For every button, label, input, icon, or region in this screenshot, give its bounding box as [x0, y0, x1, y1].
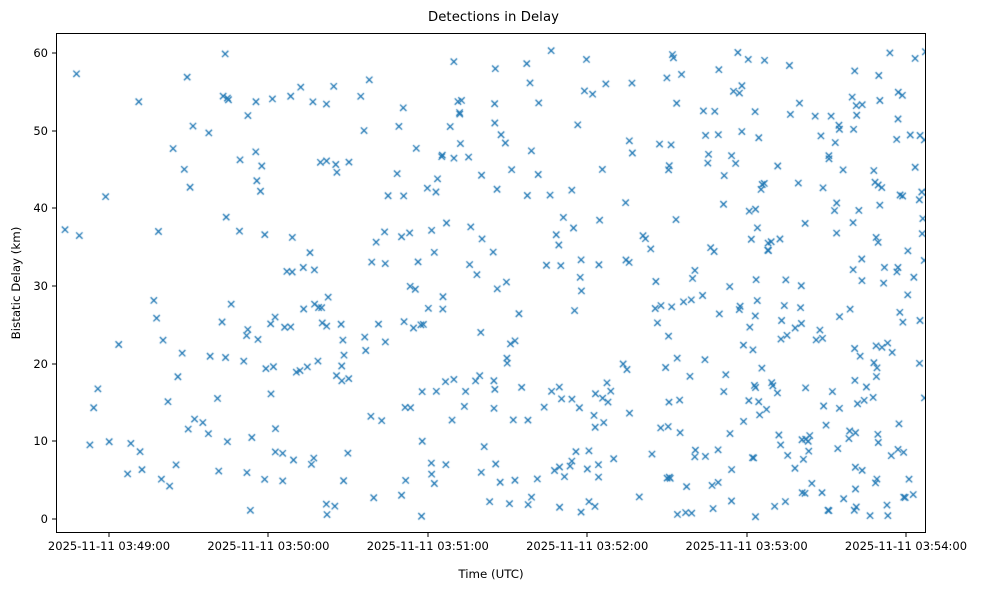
x-axis-label: Time (UTC)	[56, 567, 926, 581]
x-tick-label-1: 2025-11-11 03:50:00	[207, 540, 329, 553]
x-tick-mark	[906, 533, 907, 537]
y-axis-label: Bistatic Delay (km)	[9, 227, 23, 340]
y-axis-label-container: Bistatic Delay (km)	[16, 0, 17, 566]
x-tick-mark	[109, 533, 110, 537]
x-tick-mark	[746, 533, 747, 537]
x-tick-mark	[427, 533, 428, 537]
x-tick-label-3: 2025-11-11 03:52:00	[526, 540, 648, 553]
y-tick-mark	[52, 53, 56, 54]
x-tick-label-0: 2025-11-11 03:49:00	[48, 540, 170, 553]
y-tick-mark	[52, 208, 56, 209]
y-tick-mark	[52, 441, 56, 442]
y-tick-mark	[52, 130, 56, 131]
scatter-plot-canvas	[57, 34, 926, 533]
x-tick-label-5: 2025-11-11 03:54:00	[845, 540, 967, 553]
x-tick-mark	[268, 533, 269, 537]
x-tick-label-4: 2025-11-11 03:53:00	[686, 540, 808, 553]
plot-axes	[56, 33, 926, 533]
page-title: Detections in Delay	[0, 10, 987, 25]
y-tick-mark	[52, 363, 56, 364]
matplotlib-figure: Detections in Delay 0102030405060 2025-1…	[0, 0, 987, 590]
x-tick-label-2: 2025-11-11 03:51:00	[367, 540, 489, 553]
y-tick-mark	[52, 286, 56, 287]
x-tick-mark	[587, 533, 588, 537]
y-tick-mark	[52, 519, 56, 520]
